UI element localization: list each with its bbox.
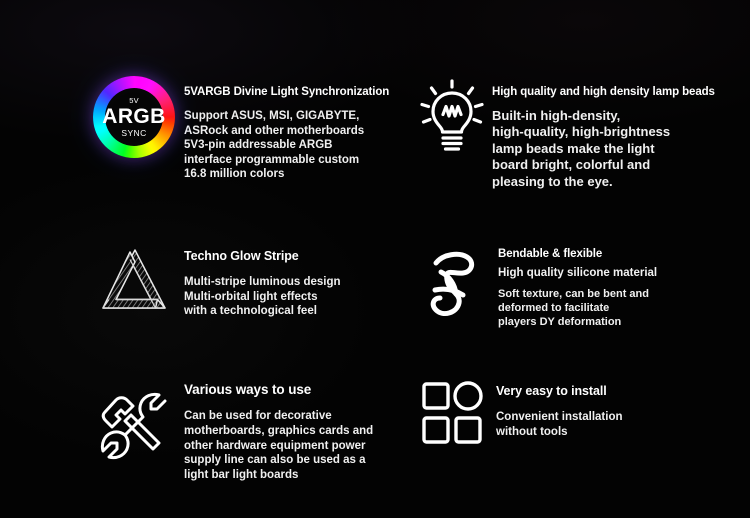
argb-body-line: 16.8 million colors: [184, 167, 428, 182]
techno-glow-body: Multi-stripe luminous design Multi-orbit…: [184, 275, 426, 319]
bendable-body-line: players DY deformation: [498, 315, 750, 329]
argb-body-line: 5V3-pin addressable ARGB: [184, 138, 428, 153]
argb-body-line: interface programmable custom: [184, 153, 428, 168]
hammer-wrench-icon: [96, 388, 176, 466]
lamp-beads-body-line: high-quality, high-brightness: [492, 124, 750, 140]
lamp-beads-body-line: Built-in high-density,: [492, 108, 750, 124]
grid-square-top-left: [424, 384, 448, 408]
argb-body-line: ASRock and other motherboards: [184, 124, 428, 139]
lamp-beads-text-wrap: High quality and high density lamp beads…: [490, 70, 750, 190]
various-uses-body: Can be used for decorative motherboards,…: [184, 409, 426, 483]
lamp-beads-body-line: pleasing to the eye.: [492, 174, 750, 190]
argb-body: Support ASUS, MSI, GIGABYTE, ASRock and …: [184, 109, 428, 182]
argb-text-wrap: 5VARGB Divine Light Synchronization Supp…: [180, 76, 428, 182]
easy-install-title: Very easy to install: [496, 384, 750, 398]
various-uses-body-line: supply line can also be used as a: [184, 453, 426, 468]
techno-glow-body-line: Multi-orbital light effects: [184, 290, 426, 305]
bendable-body-line: deformed to facilitate: [498, 301, 750, 315]
argb-ring-label: 5V ARGB SYNC: [93, 76, 175, 158]
argb-ring-icon: 5V ARGB SYNC: [93, 76, 175, 158]
feature-block-lamp-beads: High quality and high density lamp beads…: [414, 70, 750, 190]
hammer-wrench-icon-wrap: [90, 382, 182, 466]
various-uses-body-line: motherboards, graphics cards and: [184, 424, 426, 439]
grid-square-bottom-left: [424, 418, 448, 442]
easy-install-body-line: Convenient installation: [496, 410, 750, 425]
argb-sync-text: SYNC: [121, 129, 146, 138]
lamp-beads-title: High quality and high density lamp beads: [492, 86, 750, 98]
lamp-beads-body-line: lamp beads make the light: [492, 141, 750, 157]
lamp-beads-body: Built-in high-density, high-quality, hig…: [492, 108, 750, 190]
various-uses-body-line: other hardware equipment power: [184, 439, 426, 454]
techno-glow-body-line: with a technological feel: [184, 304, 426, 319]
feature-panel: 5V ARGB SYNC 5VARGB Divine Light Synchro…: [0, 0, 750, 518]
lamp-beads-body-line: board bright, colorful and: [492, 157, 750, 173]
bendable-title: Bendable & flexible: [498, 248, 750, 260]
techno-glow-title: Techno Glow Stripe: [184, 249, 426, 263]
feature-block-various-uses: Various ways to use Can be used for deco…: [90, 382, 426, 483]
argb-main-text: ARGB: [102, 106, 165, 127]
lightbulb-icon: [419, 78, 485, 156]
argb-title: 5VARGB Divine Light Synchronization: [184, 86, 428, 98]
various-uses-body-line: light bar light boards: [184, 468, 426, 483]
feature-block-argb: 5V ARGB SYNC 5VARGB Divine Light Synchro…: [88, 76, 428, 182]
grid-square-bottom-right: [456, 418, 480, 442]
feature-block-bendable: Bendable & flexible High quality silicon…: [416, 244, 750, 329]
squiggle-icon-wrap: [416, 244, 496, 326]
bendable-text-wrap: Bendable & flexible High quality silicon…: [496, 244, 750, 329]
penrose-triangle-icon-wrap: [90, 244, 180, 318]
grid-circle-top-right: [455, 383, 481, 409]
easy-install-body-line: without tools: [496, 425, 750, 440]
argb-ring-icon-wrap: 5V ARGB SYNC: [88, 76, 180, 158]
easy-install-body: Convenient installation without tools: [496, 410, 750, 440]
argb-body-line: Support ASUS, MSI, GIGABYTE,: [184, 109, 428, 124]
various-uses-title: Various ways to use: [184, 382, 426, 397]
bendable-subtitle: High quality silicone material: [498, 267, 750, 279]
feature-block-easy-install: Very easy to install Convenient installa…: [414, 378, 750, 446]
bendable-body: Soft texture, can be bent and deformed t…: [498, 287, 750, 329]
grid-shapes-icon: [420, 380, 486, 446]
various-uses-body-line: Can be used for decorative: [184, 409, 426, 424]
various-uses-text-wrap: Various ways to use Can be used for deco…: [182, 382, 426, 483]
feature-block-techno-glow: Techno Glow Stripe Multi-stripe luminous…: [90, 244, 426, 319]
grid-shapes-icon-wrap: [414, 378, 492, 446]
squiggle-icon: [423, 246, 489, 326]
lightbulb-icon-wrap: [414, 70, 490, 156]
penrose-triangle-icon: [97, 246, 173, 318]
techno-glow-text-wrap: Techno Glow Stripe Multi-stripe luminous…: [180, 244, 426, 319]
argb-5v-text: 5V: [129, 97, 139, 105]
techno-glow-body-line: Multi-stripe luminous design: [184, 275, 426, 290]
easy-install-text-wrap: Very easy to install Convenient installa…: [492, 378, 750, 440]
bendable-body-line: Soft texture, can be bent and: [498, 287, 750, 301]
